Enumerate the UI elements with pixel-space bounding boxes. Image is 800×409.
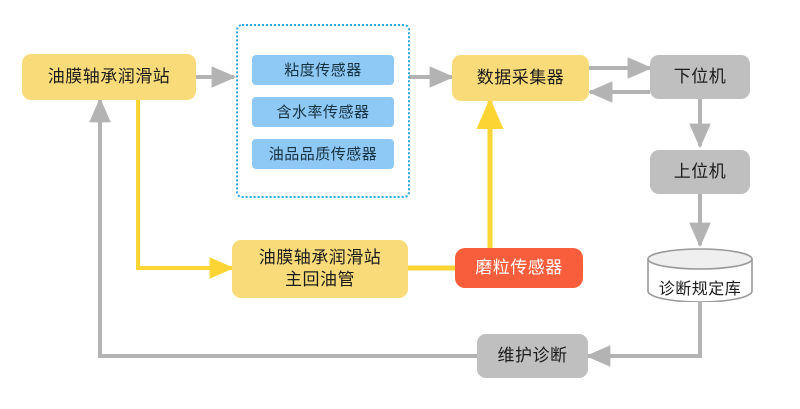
node-moisture-sensor[interactable]: 含水率传感器 — [252, 97, 394, 127]
node-viscosity-sensor[interactable]: 粘度传感器 — [252, 55, 394, 85]
node-wear-particle-sensor-label: 磨粒传感器 — [475, 258, 563, 279]
node-data-collector-label: 数据采集器 — [477, 68, 565, 89]
node-lower-computer[interactable]: 下位机 — [650, 55, 750, 99]
node-lubrication-station[interactable]: 油膜轴承润滑站 — [22, 54, 196, 100]
node-diagnosis-rule-database[interactable]: 诊断规定库 — [646, 248, 754, 302]
diagram-canvas: 油膜轴承润滑站 粘度传感器 含水率传感器 油品品质传感器 数据采集器 下位机 上… — [0, 0, 800, 409]
node-main-return-pipe-label-line2: 主回油管 — [285, 269, 355, 291]
node-wear-particle-sensor[interactable]: 磨粒传感器 — [455, 248, 583, 288]
node-main-return-pipe[interactable]: 油膜轴承润滑站 主回油管 — [232, 240, 408, 298]
node-maintenance-diagnosis-label: 维护诊断 — [498, 346, 568, 367]
node-oil-quality-sensor[interactable]: 油品品质传感器 — [252, 139, 394, 169]
node-upper-computer[interactable]: 上位机 — [650, 150, 750, 194]
node-data-collector[interactable]: 数据采集器 — [452, 55, 589, 101]
node-maintenance-diagnosis[interactable]: 维护诊断 — [477, 334, 588, 378]
edge-database-to-maintenance — [588, 300, 700, 356]
node-diagnosis-rule-database-label: 诊断规定库 — [646, 275, 754, 299]
edge-station-to-return-pipe — [138, 100, 232, 268]
node-viscosity-sensor-label: 粘度传感器 — [284, 61, 362, 79]
node-lower-computer-label: 下位机 — [674, 67, 727, 88]
node-upper-computer-label: 上位机 — [674, 162, 727, 183]
node-oil-quality-sensor-label: 油品品质传感器 — [269, 145, 378, 163]
node-main-return-pipe-label-line1: 油膜轴承润滑站 — [259, 247, 382, 269]
node-moisture-sensor-label: 含水率传感器 — [276, 103, 369, 121]
node-lubrication-station-label: 油膜轴承润滑站 — [48, 67, 171, 88]
